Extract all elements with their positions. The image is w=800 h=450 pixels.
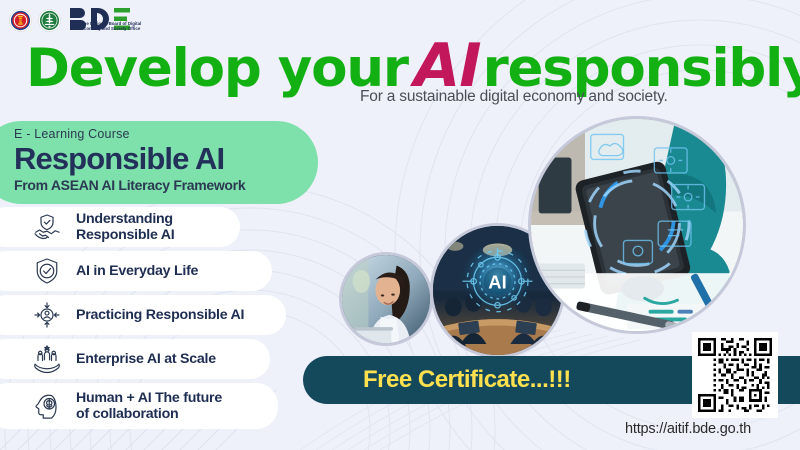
list-item-label-line1: AI in Everyday Life bbox=[76, 263, 198, 279]
qr-code[interactable] bbox=[692, 332, 778, 418]
list-item-label: Human + AI The future of collaboration bbox=[76, 390, 222, 422]
list-item-label-line2: Responsible AI bbox=[76, 227, 174, 243]
list-item-label: Enterprise AI at Scale bbox=[76, 351, 216, 367]
thai-gov-logo bbox=[38, 9, 61, 32]
photo-woman-laptop bbox=[339, 252, 433, 346]
list-item[interactable]: Enterprise AI at Scale bbox=[0, 339, 270, 379]
list-item-label-line1: Practicing Responsible AI bbox=[76, 307, 244, 323]
list-item[interactable]: Practicing Responsible AI bbox=[0, 295, 286, 335]
feature-list: Understanding Responsible AI AI in Every… bbox=[0, 207, 292, 429]
hand-people-icon bbox=[32, 344, 62, 374]
list-item-label-line2: of collaboration bbox=[76, 406, 222, 422]
person-cycle-icon bbox=[32, 300, 62, 330]
list-item-label: Practicing Responsible AI bbox=[76, 307, 244, 323]
course-kicker: E - Learning Course bbox=[14, 127, 318, 141]
handshake-shield-icon bbox=[32, 212, 62, 242]
website-url[interactable]: https://aitif.bde.go.th bbox=[625, 421, 751, 437]
list-item-label: Understanding Responsible AI bbox=[76, 211, 174, 243]
list-item-label-line1: Understanding bbox=[76, 211, 174, 227]
list-item[interactable]: Understanding Responsible AI bbox=[0, 207, 240, 247]
list-item-label: AI in Everyday Life bbox=[76, 263, 198, 279]
list-item[interactable]: AI in Everyday Life bbox=[0, 251, 272, 291]
list-item[interactable]: Human + AI The future of collaboration bbox=[0, 383, 278, 429]
logo-bar: BDE The National Board of Digital Econom… bbox=[9, 7, 141, 33]
shield-check-icon bbox=[32, 256, 62, 286]
bde-tagline-line2: Economy and Society Office bbox=[81, 26, 141, 32]
course-title: Responsible AI bbox=[14, 142, 318, 176]
svg-text:AI: AI bbox=[488, 272, 506, 293]
list-item-label-line1: Enterprise AI at Scale bbox=[76, 351, 216, 367]
photo-tablet-hands bbox=[528, 116, 746, 334]
course-panel: E - Learning Course Responsible AI From … bbox=[0, 121, 318, 204]
course-subtitle: From ASEAN AI Literacy Framework bbox=[14, 177, 318, 193]
headline: Develop yourAIresponsibly bbox=[26, 38, 786, 94]
head-brain-icon bbox=[32, 391, 62, 421]
list-item-label-line1: Human + AI The future bbox=[76, 390, 222, 406]
promo-banner: BDE The National Board of Digital Econom… bbox=[0, 0, 800, 450]
headline-subtitle: For a sustainable digital economy and so… bbox=[360, 88, 668, 106]
headline-part-develop: Develop your bbox=[26, 38, 408, 99]
free-certificate-label: Free Certificate...!!! bbox=[363, 366, 571, 394]
asean-logo bbox=[9, 9, 32, 32]
